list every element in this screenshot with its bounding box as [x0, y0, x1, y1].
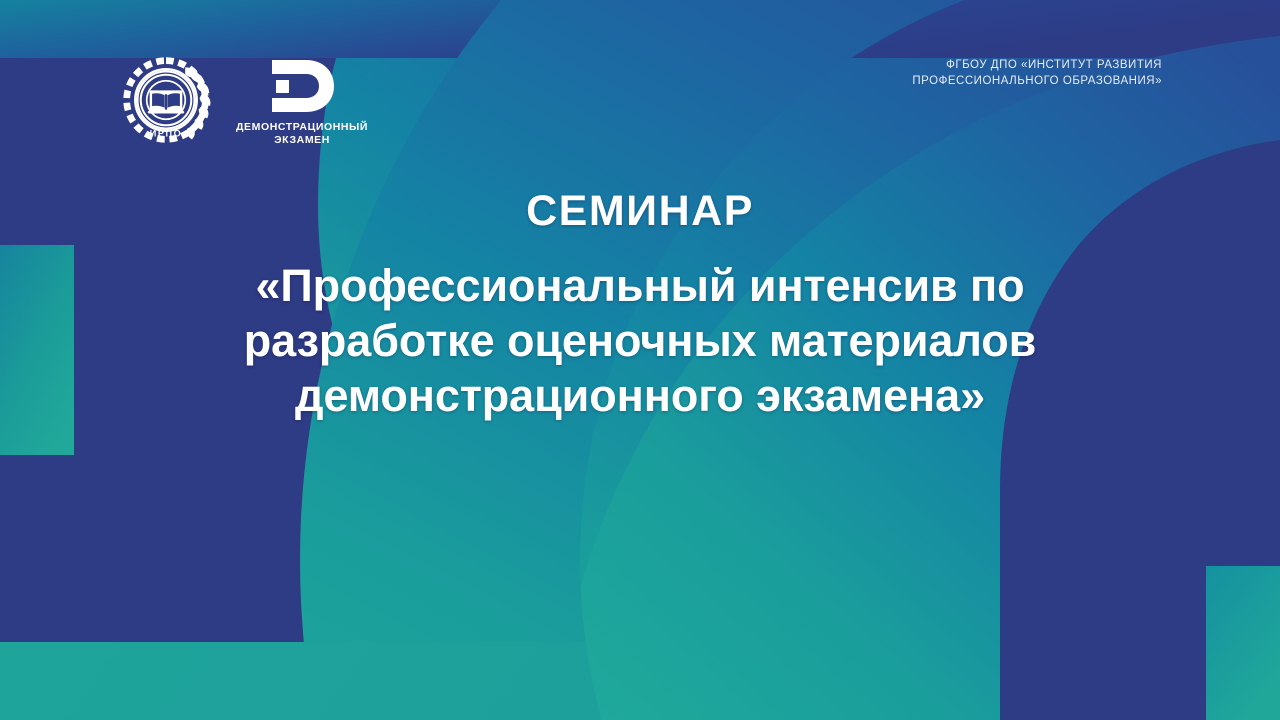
- demo-exam-line2: ЭКЗАМЕН: [236, 134, 368, 147]
- irpo-emblem-icon: ИРПО: [118, 52, 214, 148]
- demonstration-exam-logo: ДЕМОНСТРАЦИОННЫЙ ЭКЗАМЕН: [236, 52, 368, 146]
- slide-kicker: СЕМИНАР: [526, 186, 754, 236]
- presentation-slide: ИРПО ДЕМОНСТРАЦИОННЫЙ ЭКЗАМЕН ФГБОУ ДПО …: [0, 0, 1280, 720]
- institute-line1: ФГБОУ ДПО «ИНСТИТУТ РАЗВИТИЯ: [912, 58, 1162, 74]
- logo-row: ИРПО ДЕМОНСТРАЦИОННЫЙ ЭКЗАМЕН: [118, 52, 368, 148]
- accent-square-bottom-right: [1206, 566, 1280, 720]
- demo-exam-line1: ДЕМОНСТРАЦИОННЫЙ: [236, 121, 368, 134]
- demonstration-exam-logo-icon: [266, 58, 338, 114]
- title-block: СЕМИНАР «Профессиональный интенсив по ра…: [0, 186, 1280, 423]
- irpo-abbreviation: ИРПО: [150, 128, 182, 138]
- institute-name: ФГБОУ ДПО «ИНСТИТУТ РАЗВИТИЯ ПРОФЕССИОНА…: [912, 58, 1162, 89]
- slide-headline: «Профессиональный интенсив по разработке…: [135, 258, 1145, 423]
- institute-line2: ПРОФЕССИОНАЛЬНОГО ОБРАЗОВАНИЯ»: [912, 74, 1162, 90]
